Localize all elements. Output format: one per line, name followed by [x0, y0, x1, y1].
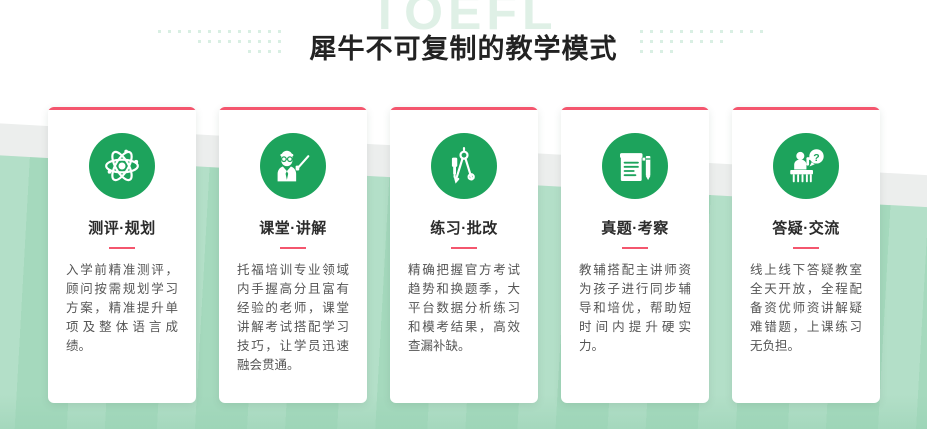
feature-card-exam-papers[interactable]: 真题·考察 教辅搭配主讲师资为孩子进行同步辅导和培优，帮助短时间内提升硬实力。: [561, 107, 709, 403]
feature-card-assessment[interactable]: 测评·规划 入学前精准测评，顾问按需规划学习方案，精准提升单项及整体语言成绩。: [48, 107, 196, 403]
card-body-text: 入学前精准测评，顾问按需规划学习方案，精准提升单项及整体语言成绩。: [66, 261, 178, 403]
page-title: 犀牛不可复制的教学模式: [0, 27, 927, 66]
notepad-pencil-icon: [602, 133, 668, 199]
card-top-accent-bar: [561, 107, 709, 110]
card-title-underline: [451, 247, 477, 249]
card-body-text: 教辅搭配主讲师资为孩子进行同步辅导和培优，帮助短时间内提升硬实力。: [579, 261, 691, 403]
card-title-underline: [793, 247, 819, 249]
compass-divider-icon: [431, 133, 497, 199]
section-header: TOEFL 犀牛不可复制的教学模式: [0, 0, 927, 92]
card-top-accent-bar: [48, 107, 196, 110]
card-top-accent-bar: [732, 107, 880, 110]
card-top-accent-bar: [219, 107, 367, 110]
feature-card-lecture[interactable]: 课堂·讲解 托福培训专业领域内手握高分且富有经验的老师，课堂讲解考试搭配学习技巧…: [219, 107, 367, 403]
feature-card-qa[interactable]: ? 答疑·交流 线上线下答疑教室全天开放，全程配备资优师资讲解疑难错题，上课练习…: [732, 107, 880, 403]
card-body-text: 托福培训专业领域内手握高分且富有经验的老师，课堂讲解考试搭配学习技巧，让学员迅速…: [237, 261, 349, 403]
teaching-model-section: TOEFL 犀牛不可复制的教学模式: [0, 0, 927, 429]
card-body-text: 线上线下答疑教室全天开放，全程配备资优师资讲解疑难错题，上课练习无负担。: [750, 261, 862, 403]
card-title-underline: [622, 247, 648, 249]
atom-icon: [89, 133, 155, 199]
card-title: 课堂·讲解: [259, 217, 327, 238]
card-title-underline: [109, 247, 135, 249]
card-title: 答疑·交流: [772, 217, 840, 238]
student-question-icon: ?: [773, 133, 839, 199]
card-title: 真题·考察: [601, 217, 669, 238]
card-title: 测评·规划: [88, 217, 156, 238]
card-top-accent-bar: [390, 107, 538, 110]
card-title-underline: [280, 247, 306, 249]
card-body-text: 精确把握官方考试趋势和换题季，大平台数据分析练习和模考结果，高效查漏补缺。: [408, 261, 520, 403]
card-title: 练习·批改: [430, 217, 498, 238]
svg-text:?: ?: [813, 152, 819, 164]
teacher-pointer-icon: [260, 133, 326, 199]
feature-card-list: 测评·规划 入学前精准测评，顾问按需规划学习方案，精准提升单项及整体语言成绩。: [48, 107, 880, 403]
feature-card-practice[interactable]: 练习·批改 精确把握官方考试趋势和换题季，大平台数据分析练习和模考结果，高效查漏…: [390, 107, 538, 403]
